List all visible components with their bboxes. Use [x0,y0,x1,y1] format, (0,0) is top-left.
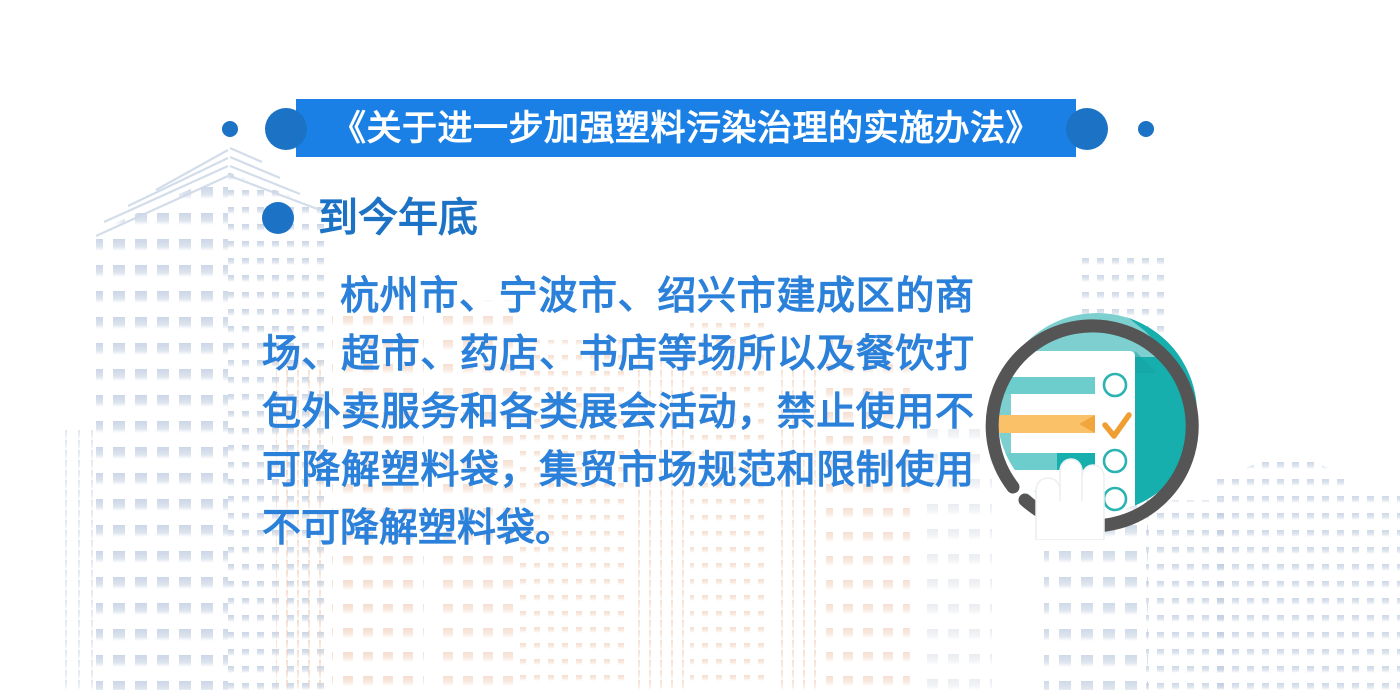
section-subtitle-row: 到今年底 [262,198,478,238]
filled-circle-bullet-icon [262,202,294,234]
decor-dot-left-large-icon [265,108,307,150]
section-body-text: 杭州市、宁波市、绍兴市建成区的商场、超市、药店、书店等场所以及餐饮打包外卖服务和… [262,268,974,558]
decor-dot-left-small-icon [222,121,238,137]
checklist-bar-2 [983,415,1095,433]
decor-dot-right-large-icon [1066,108,1108,150]
decor-dot-right-small-icon [1138,121,1154,137]
title-banner: 《关于进一步加强塑料污染治理的实施办法》 [296,99,1076,157]
page-title-bar: 《关于进一步加强塑料污染治理的实施办法》 [0,96,1400,162]
page-title: 《关于进一步加强塑料污染治理的实施办法》 [331,111,1041,146]
checklist-badge [975,295,1220,540]
section-subtitle: 到今年底 [318,198,478,238]
